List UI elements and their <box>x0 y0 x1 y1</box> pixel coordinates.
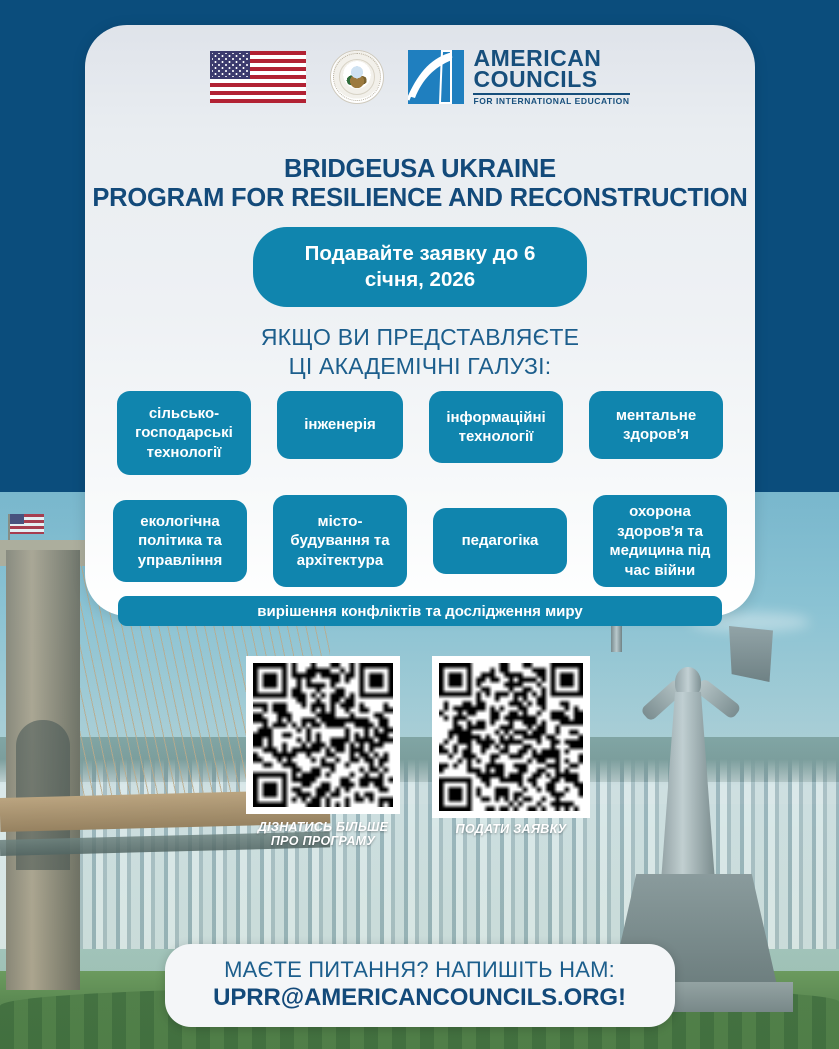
academic-fields-grid: сільсько-господарські технології інженер… <box>85 391 755 587</box>
bridge-tower <box>6 550 80 990</box>
title-line-2: PROGRAM FOR RESILIENCE AND RECONSTRUCTIO… <box>85 184 755 213</box>
us-flag-icon <box>210 51 306 103</box>
field-chip: інженерія <box>277 391 403 459</box>
subtitle-line-2: ЦІ АКАДЕМІЧНІ ГАЛУЗІ: <box>85 352 755 381</box>
monument-body <box>661 692 715 882</box>
qr-bitmap <box>253 663 393 807</box>
apply-qr-caption: ПОДАТИ ЗАЯВКУ <box>432 822 590 836</box>
field-chip: охорона здоров'я та медицина під час вій… <box>593 495 727 587</box>
us-embassy-kyiv-seal-icon <box>330 50 384 104</box>
ac-line2: COUNCILS <box>473 69 629 90</box>
american-councils-a-mark-icon <box>408 50 464 104</box>
field-chip: ментальне здоров'я <box>589 391 723 459</box>
learn-more-qr-caption: ДІЗНАТИСЬ БІЛЬШЕ ПРО ПРОГРАМУ <box>246 820 400 848</box>
field-chip: сільсько-господарські технології <box>117 391 251 475</box>
application-deadline-badge: Подавайте заявку до 6 січня, 2026 <box>253 227 587 307</box>
contact-banner[interactable]: МАЄТЕ ПИТАННЯ? НАПИШІТЬ НАМ: UPRR@AMERIC… <box>165 944 675 1027</box>
page-title: BRIDGEUSA UKRAINE PROGRAM FOR RESILIENCE… <box>85 155 755 213</box>
apply-qr[interactable] <box>432 656 590 818</box>
learn-more-qr[interactable] <box>246 656 400 814</box>
title-line-1: BRIDGEUSA UKRAINE <box>85 155 755 184</box>
learn-more-qr-block[interactable]: ДІЗНАТИСЬ БІЛЬШЕ ПРО ПРОГРАМУ <box>246 656 400 848</box>
qr-bitmap <box>439 663 583 811</box>
fields-row-2: екологічна політика та управління місто-… <box>85 495 755 587</box>
apply-qr-block[interactable]: ПОДАТИ ЗАЯВКУ <box>432 656 590 836</box>
deadline-line-1: Подавайте заявку до 6 <box>263 241 577 267</box>
caption-line-1: ПОДАТИ ЗАЯВКУ <box>432 822 590 836</box>
field-chip: місто-будування та архітектура <box>273 495 407 587</box>
field-chip: інформаційні технології <box>429 391 563 463</box>
contact-email[interactable]: UPRR@AMERICANCOUNCILS.ORG! <box>183 984 657 1012</box>
eligibility-subtitle: ЯКЩО ВИ ПРЕДСТАВЛЯЄТЕ ЦІ АКАДЕМІЧНІ ГАЛУ… <box>85 323 755 382</box>
field-chip-wide: вирішення конфліктів та дослідження миру <box>118 596 722 626</box>
field-chip: екологічна політика та управління <box>113 500 247 582</box>
field-chip: педагогіка <box>433 508 567 574</box>
ac-line3: FOR INTERNATIONAL EDUCATION <box>473 93 629 106</box>
poster-canvas: AMERICAN COUNCILS FOR INTERNATIONAL EDUC… <box>0 0 839 1049</box>
american-councils-logo: AMERICAN COUNCILS FOR INTERNATIONAL EDUC… <box>408 48 629 106</box>
subtitle-line-1: ЯКЩО ВИ ПРЕДСТАВЛЯЄТЕ <box>85 323 755 352</box>
us-flag-icon <box>10 514 44 534</box>
fields-row-1: сільсько-господарські технології інженер… <box>85 391 755 475</box>
contact-question: МАЄТЕ ПИТАННЯ? НАПИШІТЬ НАМ: <box>183 957 657 983</box>
caption-line-2: ПРО ПРОГРАМУ <box>246 834 400 848</box>
caption-line-1: ДІЗНАТИСЬ БІЛЬШЕ <box>246 820 400 834</box>
flag-stars <box>212 53 248 77</box>
content-card: AMERICAN COUNCILS FOR INTERNATIONAL EDUC… <box>85 25 755 616</box>
american-councils-wordmark: AMERICAN COUNCILS FOR INTERNATIONAL EDUC… <box>473 48 629 106</box>
monument-shield <box>729 626 773 682</box>
logo-row: AMERICAN COUNCILS FOR INTERNATIONAL EDUC… <box>85 48 755 106</box>
deadline-line-2: січня, 2026 <box>263 267 577 293</box>
